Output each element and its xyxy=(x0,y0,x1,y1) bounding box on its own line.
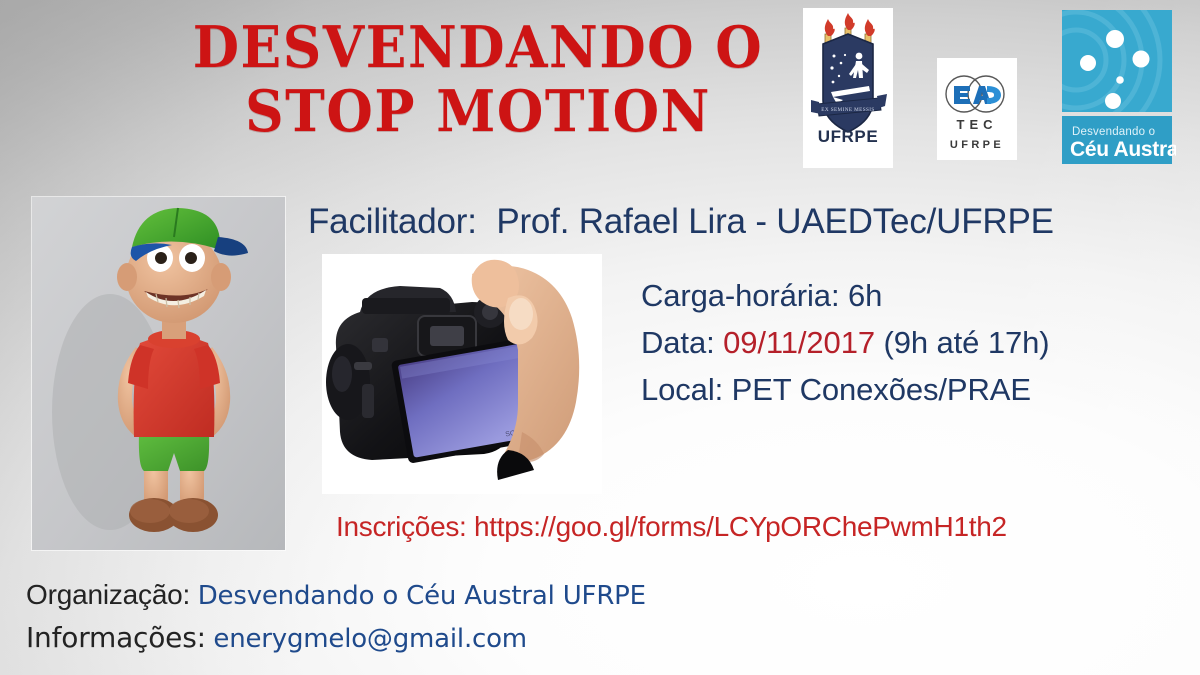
ufrpe-logo: EX SEMINE MESSIS UFRPE xyxy=(803,8,893,168)
organization-line: Organização: Desvendando o Céu Austral U… xyxy=(26,574,646,617)
title-line-1: Desvendando o xyxy=(156,16,801,80)
dslr-camera-photo: SONY xyxy=(322,254,602,494)
data-value: 09/11/2017 xyxy=(723,325,875,360)
ead-tec-ufrpe-logo: TEC UFRPE xyxy=(937,58,1017,160)
ceu-austral-line1-text: Desvendando o xyxy=(1072,126,1155,138)
carga-horaria-value: 6h xyxy=(848,278,882,313)
facilitator-label: Facilitador: xyxy=(308,202,477,241)
detail-data: Data: 09/11/2017 (9h até 17h) xyxy=(641,319,1049,366)
facilitator-value: Prof. Rafael Lira - UAEDTec/UFRPE xyxy=(496,202,1053,241)
local-value: PET Conexões/PRAE xyxy=(732,372,1031,407)
desvendando-ceu-austral-logo: Desvendando o Céu Austral xyxy=(1058,8,1176,166)
detail-carga-horaria: Carga-horária: 6h xyxy=(641,272,1049,319)
poster-canvas: Desvendando o Stop Motion xyxy=(0,0,1200,675)
local-label: Local: xyxy=(641,372,723,407)
title-line-2: Stop Motion xyxy=(156,80,801,144)
data-time-range: (9h até 17h) xyxy=(884,325,1050,360)
detail-local: Local: PET Conexões/PRAE xyxy=(641,366,1049,413)
ufrpe-motto-text: EX SEMINE MESSIS xyxy=(821,107,874,113)
information-line: Informações: enerygmelo@gmail.com xyxy=(26,617,646,660)
facilitator-line: Facilitador: Prof. Rafael Lira - UAEDTec… xyxy=(308,200,1054,244)
information-email[interactable]: enerygmelo@gmail.com xyxy=(213,624,527,654)
registration-url[interactable]: https://goo.gl/forms/LCYpORChePwmH1th2 xyxy=(474,511,1007,542)
information-label: Informações: xyxy=(26,621,206,654)
registration-line: Inscrições: https://goo.gl/forms/LCYpORC… xyxy=(336,509,1007,545)
organization-value: Desvendando o Céu Austral UFRPE xyxy=(198,581,646,611)
ead-ufrpe-line-text: UFRPE xyxy=(950,139,1004,151)
organization-label: Organização: xyxy=(26,579,190,610)
carga-horaria-label: Carga-horária: xyxy=(641,278,839,313)
poster-title: Desvendando o Stop Motion xyxy=(168,16,788,144)
registration-label: Inscrições: xyxy=(336,511,467,542)
claymation-character-photo xyxy=(32,197,285,550)
data-label: Data: xyxy=(641,325,715,360)
footer-block: Organização: Desvendando o Céu Austral U… xyxy=(26,574,646,660)
ufrpe-caption-text: UFRPE xyxy=(818,127,879,146)
ead-tec-line-text: TEC xyxy=(957,117,998,132)
ceu-austral-line2-text: Céu Austral xyxy=(1070,138,1176,161)
details-block: Carga-horária: 6h Data: 09/11/2017 (9h a… xyxy=(641,272,1049,413)
